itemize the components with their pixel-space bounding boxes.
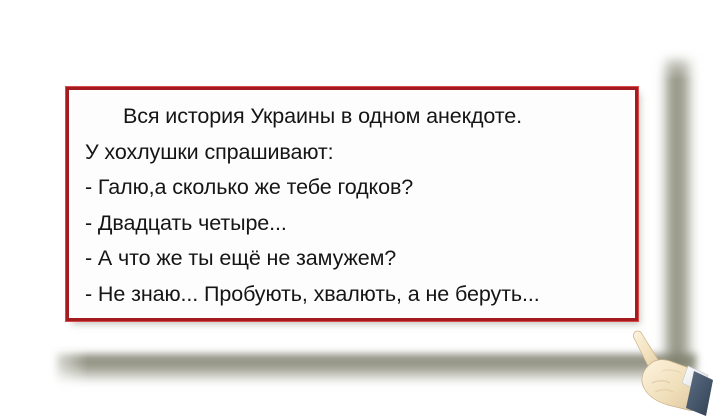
pointing-hand-icon [628,326,713,416]
card-shadow-right-fade [655,40,701,80]
joke-line-3: - Галю,а сколько же тебе годков? [85,170,628,206]
card-shadow-bottom-fade [40,348,88,390]
meme-canvas: Вся история Украины в одном анекдоте. У … [0,0,713,416]
joke-line-2: У хохлушки спрашивают: [85,135,628,171]
joke-line-4: - Двадцать четыре... [85,206,628,242]
joke-card: Вся история Украины в одном анекдоте. У … [66,87,638,321]
joke-line-6: - Не знаю... Пробують, хвалють, а не бер… [85,277,628,313]
card-shadow-right [661,58,695,370]
joke-card-inner: Вся история Украины в одном анекдоте. У … [72,93,632,315]
joke-text-block: Вся история Украины в одном анекдоте. У … [85,99,628,312]
card-shadow-bottom [56,354,696,384]
joke-line-1: Вся история Украины в одном анекдоте. [85,99,628,135]
joke-line-5: - А что же ты ещё не замужем? [85,241,628,277]
